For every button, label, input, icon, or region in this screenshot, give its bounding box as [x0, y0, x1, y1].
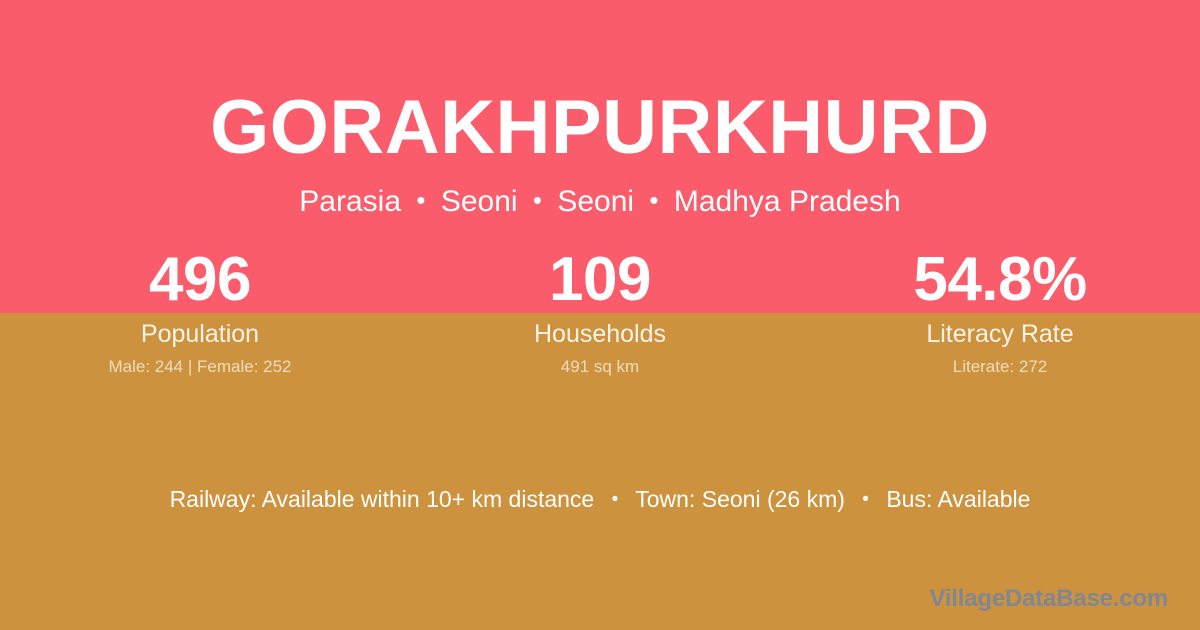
site-brand-watermark: VillageDataBase.com — [929, 584, 1168, 614]
stat-population: 496 Population Male: 244 | Female: 252 — [0, 246, 400, 378]
stat-label: Literacy Rate — [800, 318, 1200, 350]
stat-value: 496 — [0, 246, 400, 314]
breadcrumb-separator-icon: • — [526, 185, 549, 215]
breadcrumb: Parasia • Seoni • Seoni • Madhya Pradesh — [0, 180, 1200, 222]
stat-households: 109 Households 491 sq km — [400, 246, 800, 378]
stat-detail: Literate: 272 — [800, 356, 1200, 378]
stat-value: 54.8% — [800, 246, 1200, 314]
amenity-town: Town: Seoni (26 km) — [635, 486, 845, 512]
village-info-card: GORAKHPURKHURD Parasia • Seoni • Seoni •… — [0, 0, 1200, 630]
stats-row: 496 Population Male: 244 | Female: 252 1… — [0, 246, 1200, 378]
amenity-railway: Railway: Available within 10+ km distanc… — [170, 486, 595, 512]
stat-value: 109 — [400, 246, 800, 314]
amenity-bus: Bus: Available — [886, 486, 1030, 512]
stat-detail: Male: 244 | Female: 252 — [0, 356, 400, 378]
card-content: GORAKHPURKHURD Parasia • Seoni • Seoni •… — [0, 0, 1200, 630]
amenity-separator-icon: • — [601, 489, 630, 510]
page-title: GORAKHPURKHURD — [0, 82, 1200, 174]
breadcrumb-block: Parasia — [299, 185, 401, 218]
breadcrumb-state: Madhya Pradesh — [674, 185, 901, 218]
breadcrumb-separator-icon: • — [409, 185, 432, 215]
amenities-line: Railway: Available within 10+ km distanc… — [0, 483, 1200, 516]
breadcrumb-district: Seoni — [557, 185, 634, 218]
stat-label: Households — [400, 318, 800, 350]
stat-label: Population — [0, 318, 400, 350]
stat-literacy-rate: 54.8% Literacy Rate Literate: 272 — [800, 246, 1200, 378]
stat-detail: 491 sq km — [400, 356, 800, 378]
breadcrumb-subdistrict: Seoni — [441, 185, 518, 218]
breadcrumb-separator-icon: • — [642, 185, 665, 215]
amenity-separator-icon: • — [851, 489, 880, 510]
